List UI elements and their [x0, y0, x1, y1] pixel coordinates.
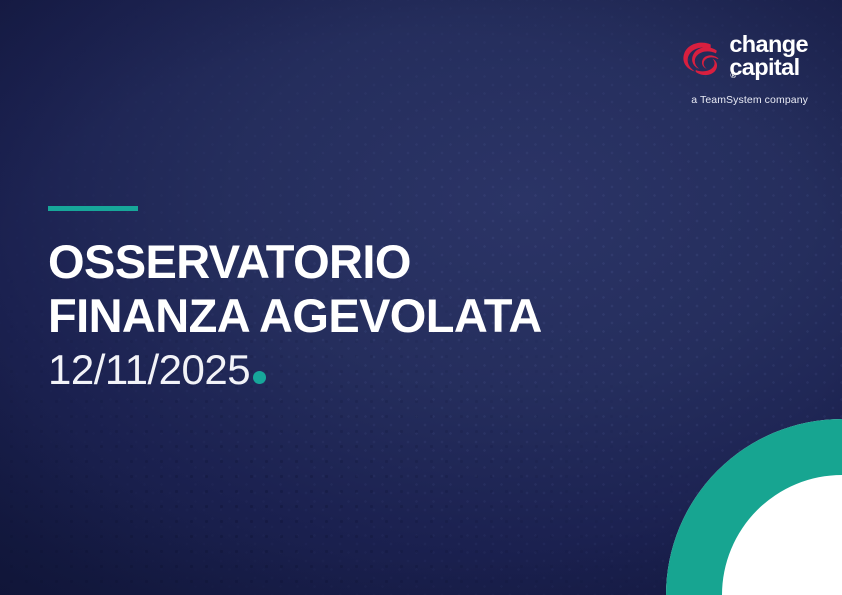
- logo-wordmark: change capital®: [729, 33, 808, 87]
- registered-trademark-icon: ®: [730, 72, 809, 80]
- brand-logo[interactable]: change capital® a TeamSystem company: [672, 33, 808, 106]
- change-capital-spiral-icon: [679, 37, 723, 82]
- logo-tagline: a TeamSystem company: [691, 94, 808, 106]
- corner-arc-icon: [542, 375, 842, 595]
- title-line-1: OSSERVATORIO: [48, 235, 542, 289]
- slide-date: 12/11/2025: [48, 346, 542, 393]
- logo-word-line1: change: [729, 33, 808, 56]
- title-slide: change capital® a TeamSystem company OSS…: [0, 0, 842, 595]
- teal-period-dot: [253, 371, 266, 384]
- teal-accent-bar: [48, 206, 138, 211]
- teal-corner-arc: [542, 375, 842, 595]
- page-title: OSSERVATORIO FINANZA AGEVOLATA: [48, 235, 542, 342]
- title-line-2: FINANZA AGEVOLATA: [48, 289, 542, 343]
- logo-row: change capital®: [679, 33, 808, 87]
- logo-word-line2: capital®: [729, 56, 808, 87]
- title-block: OSSERVATORIO FINANZA AGEVOLATA 12/11/202…: [48, 206, 542, 393]
- slide-date-text: 12/11/2025: [48, 346, 250, 393]
